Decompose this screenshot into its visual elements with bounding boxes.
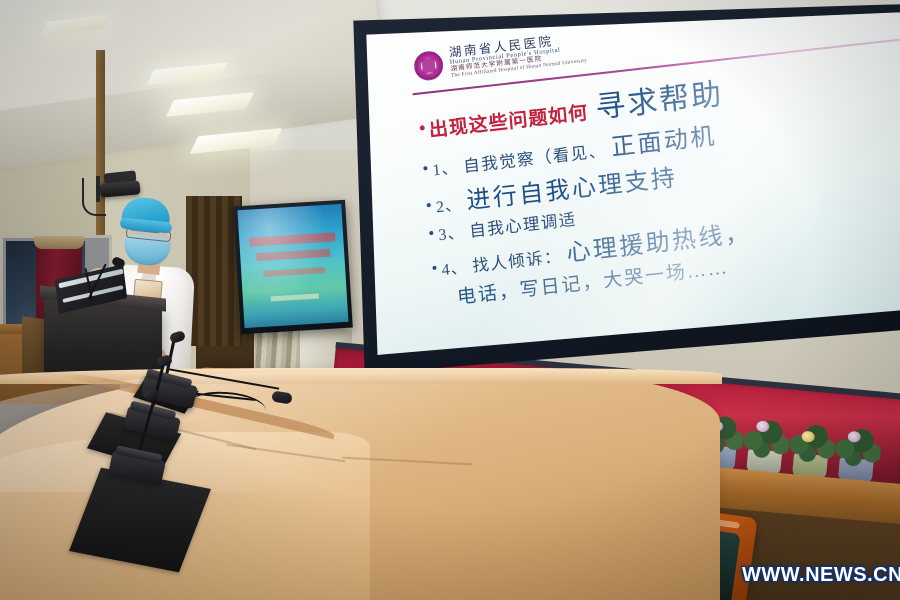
lecture-hall-photo: 湖南省人民医院 Hunan Provincial People's Hospit… — [0, 0, 900, 600]
title-bullet-icon — [420, 125, 425, 131]
bullet-dot-icon — [427, 203, 431, 207]
bullet-dot-icon — [423, 166, 427, 170]
hospital-seal-icon — [413, 49, 444, 81]
projection-screen: 湖南省人民医院 Hunan Provincial People's Hospit… — [342, 4, 900, 374]
bullet-number: 3、 — [437, 218, 465, 245]
secondary-display-screen — [237, 204, 348, 328]
secondary-display — [233, 200, 353, 335]
bullet-number: 1、 — [431, 154, 459, 181]
bullet-dot-icon — [429, 231, 433, 235]
presentation-slide: 湖南省人民医院 Hunan Provincial People's Hospit… — [384, 0, 900, 351]
news-watermark: WWW.NEWS.CN — [742, 564, 900, 587]
bullet-number: 2、 — [435, 191, 463, 218]
bullet-number: 4、 — [440, 253, 468, 280]
bullet-dot-icon — [432, 266, 436, 270]
projection-screen-surface: 湖南省人民医院 Hunan Provincial People's Hospit… — [354, 10, 900, 362]
curtain-valance — [34, 236, 84, 249]
